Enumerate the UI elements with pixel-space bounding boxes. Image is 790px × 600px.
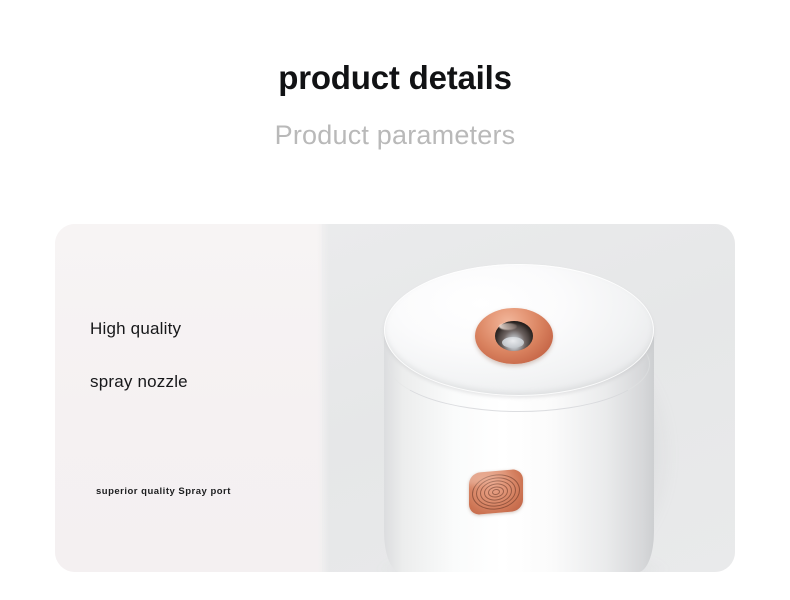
nozzle-highlight (499, 323, 517, 330)
humidifier-product-image (354, 258, 684, 572)
nozzle-lens (502, 337, 524, 348)
panel-left-info: High quality spray nozzle superior quali… (55, 224, 322, 572)
product-details-page: product details Product parameters High … (0, 0, 790, 600)
page-title: product details (0, 58, 790, 98)
spray-nozzle-icon (475, 308, 553, 364)
feature-label-line-1: High quality (90, 318, 181, 340)
page-subtitle: Product parameters (0, 118, 790, 152)
fingerprint-badge-icon (469, 469, 523, 516)
feature-label-line-2: spray nozzle (90, 371, 188, 393)
panel-right-photo (322, 224, 735, 572)
feature-caption: superior quality Spray port (96, 485, 231, 499)
product-detail-panel: High quality spray nozzle superior quali… (55, 224, 735, 572)
